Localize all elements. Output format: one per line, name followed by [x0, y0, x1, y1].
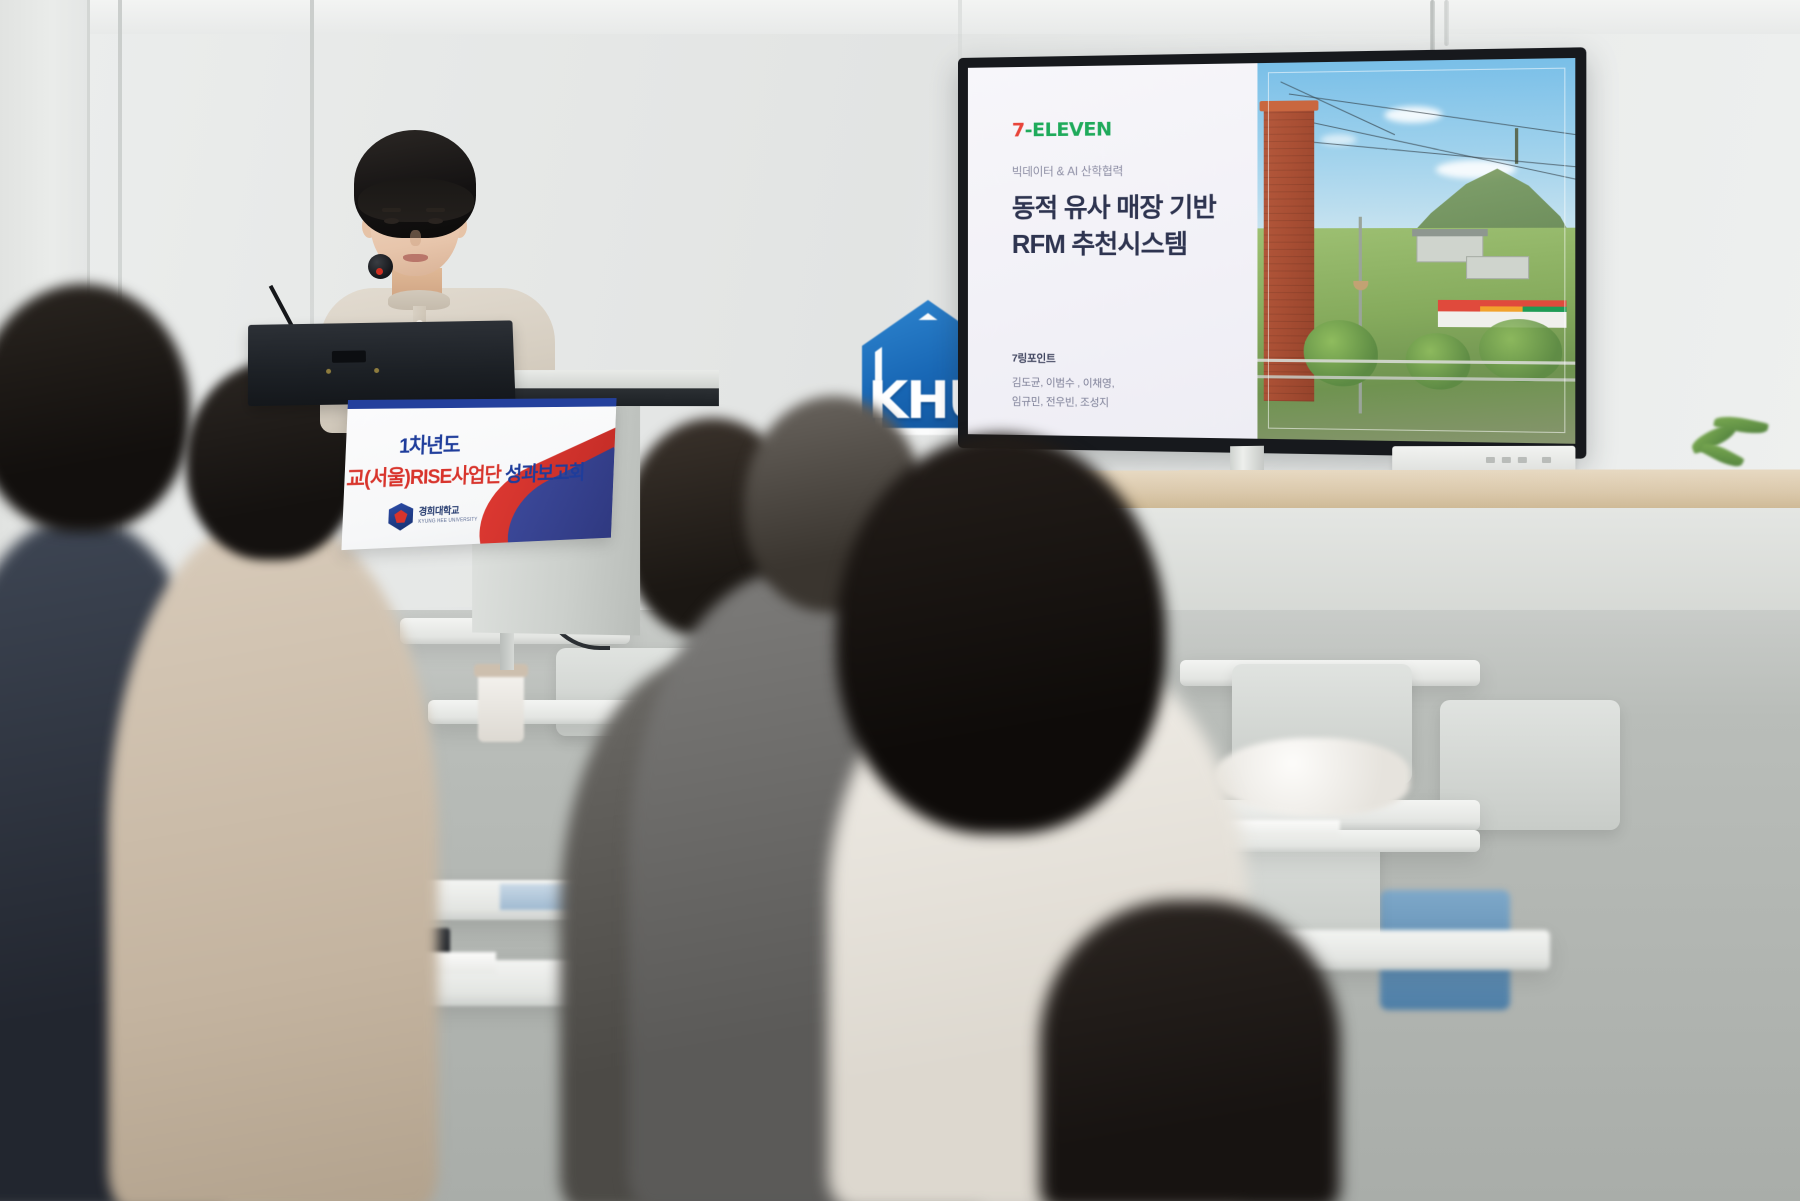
potted-plant-right — [1680, 400, 1790, 480]
banner-line-1: 1차년도 — [399, 429, 461, 460]
presenter-mouth — [403, 254, 428, 262]
presenter-hair-fringe — [358, 178, 474, 222]
presenter-eyebrow — [426, 208, 445, 212]
photo-brick-cap — [1260, 100, 1319, 111]
slide-team-members-line-1: 김도균, 이범수 , 이채영, — [1012, 374, 1115, 394]
presentation-slide: 7-ELEVEN 빅데이터 & AI 산학협력 동적 유사 매장 기반 RFM … — [968, 58, 1575, 444]
photo-utility-pole — [1359, 217, 1362, 414]
seven-eleven-logo: 7-ELEVEN — [1012, 119, 1258, 141]
wall-mounted-display[interactable]: 7-ELEVEN 빅데이터 & AI 산학협력 동적 유사 매장 기반 RFM … — [958, 47, 1586, 458]
banner-line-2-prefix: 교 — [346, 467, 365, 490]
banner-line-2-red: (서울)RISE사업단 — [364, 464, 502, 490]
podium-banner: 1차년도 교(서울)RISE사업단 성과보고회 경희대학교 KYUNG HEE … — [341, 398, 616, 550]
audience-member-head — [836, 434, 1166, 834]
presenter-eye — [428, 218, 443, 224]
photo-store-stripe — [1438, 306, 1567, 312]
university-name-en: KYUNG HEE UNIVERSITY — [418, 517, 477, 525]
banner-line-2-navy: 성과보고회 — [505, 462, 585, 486]
presenter-nose — [410, 230, 421, 246]
slide-text-column: 7-ELEVEN 빅데이터 & AI 산학협력 동적 유사 매장 기반 RFM … — [968, 63, 1258, 439]
monitor-screw — [326, 369, 331, 374]
ceiling-strip — [0, 0, 1800, 34]
confidence-monitor[interactable] — [248, 320, 516, 406]
university-crest-icon — [388, 503, 414, 532]
cloth-bundle[interactable] — [1214, 738, 1410, 816]
photo-building-roof — [1412, 229, 1488, 236]
av-vent — [1502, 457, 1511, 463]
university-name-ko: 경희대학교 — [418, 505, 459, 517]
university-logo-lockup: 경희대학교 KYUNG HEE UNIVERSITY — [388, 500, 478, 531]
slide-photo — [1258, 58, 1576, 444]
av-vent — [1518, 457, 1527, 463]
monitor-screw — [374, 368, 379, 373]
slide-team-name: 7링포인트 — [1012, 351, 1115, 367]
slide-team-block: 7링포인트 김도균, 이범수 , 이채영, 임규민, 전우빈, 조성지 — [1012, 351, 1115, 412]
university-name: 경희대학교 KYUNG HEE UNIVERSITY — [418, 505, 478, 526]
audience-member-shoulder — [1040, 900, 1340, 1201]
seven-eleven-wordmark: -ELEVEN — [1025, 118, 1112, 141]
microphone-head — [368, 254, 393, 279]
av-vent — [1486, 457, 1495, 463]
seven-eleven-digit: 7 — [1012, 119, 1025, 141]
coffee-cup[interactable] — [478, 672, 524, 742]
audience-member-torso — [108, 520, 438, 1201]
ceiling-cable — [1444, 0, 1449, 46]
presenter-eyebrow — [382, 208, 401, 212]
slide-team-members-line-2: 임규민, 전우빈, 조성지 — [1012, 392, 1115, 412]
slide-title-line-1: 동적 유사 매장 기반 — [1012, 189, 1258, 227]
display-bezel: 7-ELEVEN 빅데이터 & AI 산학협력 동적 유사 매장 기반 RFM … — [968, 58, 1575, 444]
photo-tower — [1515, 128, 1518, 164]
presentation-scene-photo: KHU 7-ELEVEN 빅데이터 & AI 산학협력 동적 유사 매장 기반 … — [0, 0, 1800, 1201]
slide-title-line-2: RFM 추천시스템 — [1012, 227, 1258, 264]
photo-building — [1466, 256, 1529, 279]
monitor-port — [332, 350, 366, 362]
plant-leaf — [1699, 438, 1744, 471]
presenter-eye — [384, 218, 399, 224]
wall-seam — [958, 0, 962, 60]
av-vent — [1542, 457, 1551, 463]
slide-kicker: 빅데이터 & AI 산학협력 — [1012, 162, 1258, 180]
microphone-indicator-light — [376, 268, 383, 275]
